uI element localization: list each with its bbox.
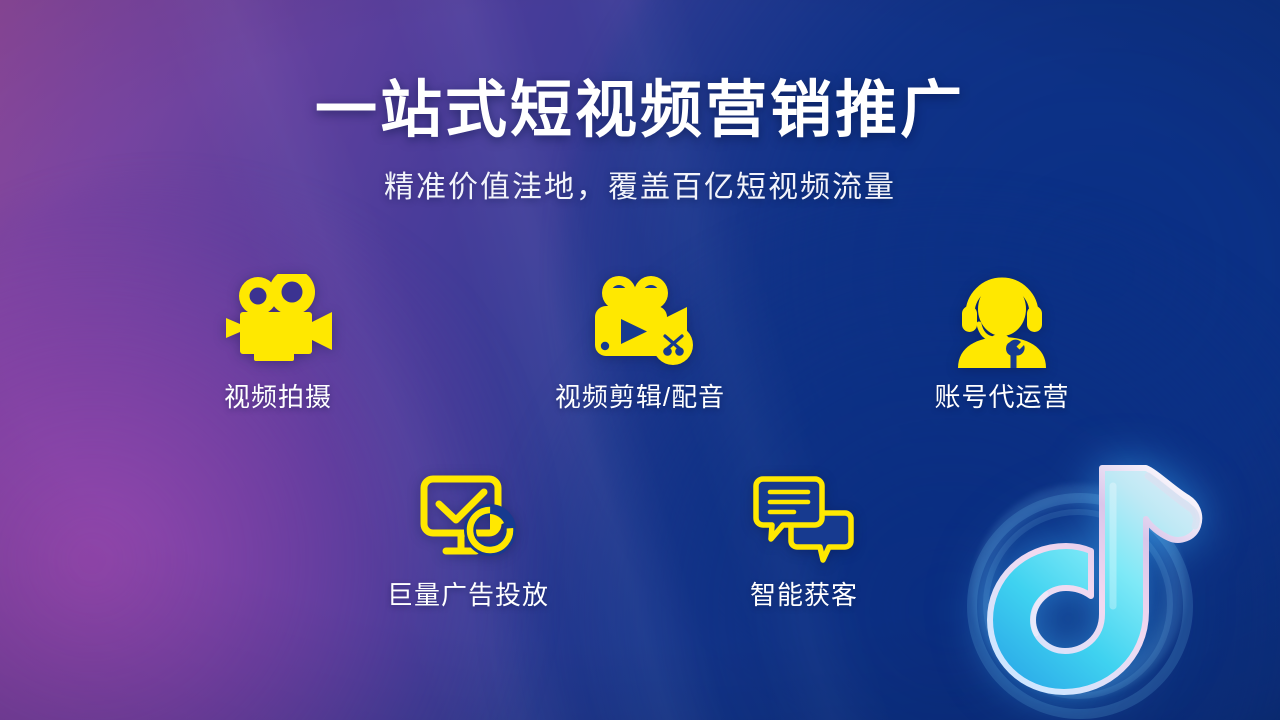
service-row-bottom: 巨量广告投放 智能获客 — [0, 470, 1280, 608]
movie-camera-icon — [220, 272, 336, 368]
service-label: 智能获客 — [750, 582, 858, 608]
service-label: 视频拍摄 — [224, 384, 332, 410]
service-row-top: 视频拍摄 — [0, 272, 1280, 410]
service-label: 巨量广告投放 — [387, 582, 549, 608]
service-label: 视频剪辑/配音 — [555, 384, 725, 410]
promo-banner: 一站式短视频营销推广 精准价值洼地，覆盖百亿短视频流量 — [0, 0, 1280, 720]
headset-agent-wrench-icon — [950, 272, 1054, 368]
video-edit-scissors-icon — [581, 272, 699, 368]
monitor-check-chart-icon — [418, 470, 518, 566]
service-item-ad-placement[interactable]: 巨量广告投放 — [378, 470, 558, 608]
chat-bubbles-icon — [753, 470, 855, 566]
service-item-video-shooting[interactable]: 视频拍摄 — [188, 272, 368, 410]
banner-heading-block: 一站式短视频营销推广 精准价值洼地，覆盖百亿短视频流量 — [0, 78, 1280, 206]
service-item-account-operation[interactable]: 账号代运营 — [912, 272, 1092, 410]
page-subtitle: 精准价值洼地，覆盖百亿短视频流量 — [0, 170, 1280, 206]
service-label: 账号代运营 — [934, 384, 1069, 410]
page-title: 一站式短视频营销推广 — [0, 78, 1280, 144]
service-item-smart-acquisition[interactable]: 智能获客 — [714, 470, 894, 608]
service-item-video-editing[interactable]: 视频剪辑/配音 — [550, 272, 730, 410]
